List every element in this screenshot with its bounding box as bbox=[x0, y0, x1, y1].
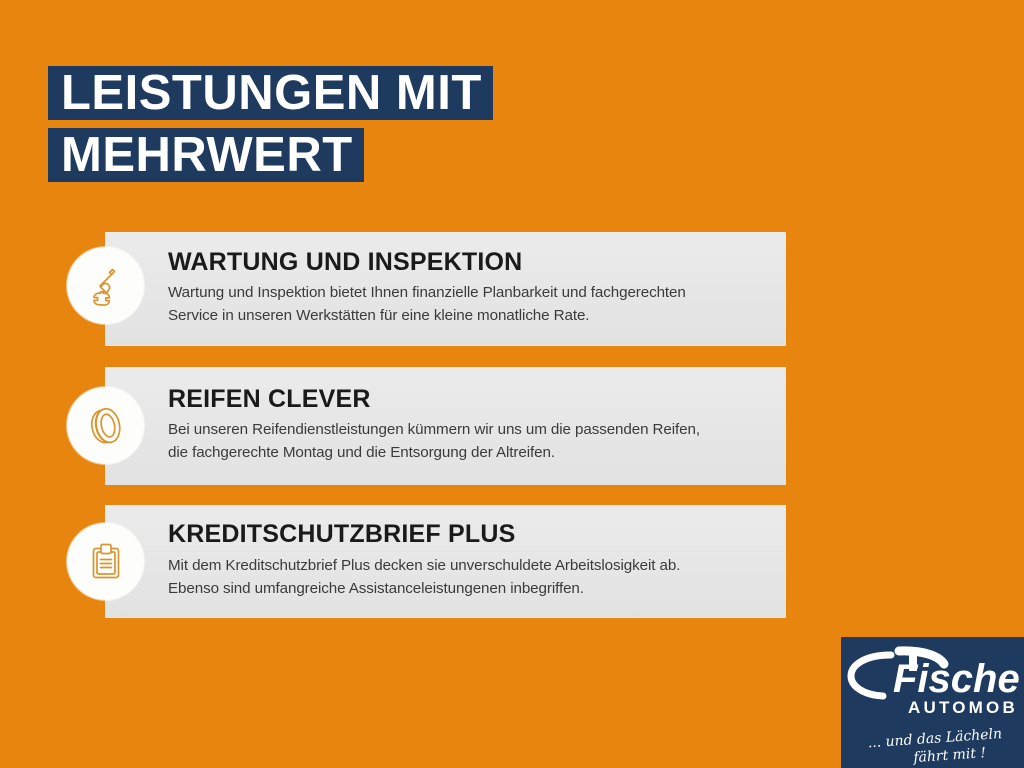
service-card-wartung-und-inspektion: WARTUNG UND INSPEKTION Wartung und Inspe… bbox=[105, 232, 786, 346]
card-description-line-2: die fachgerechte Montag und die Entsorgu… bbox=[168, 442, 768, 465]
tire-icon bbox=[67, 387, 144, 464]
card-description: Mit dem Kreditschutzbrief Plus decken si… bbox=[168, 555, 768, 601]
card-heading: KREDITSCHUTZBRIEF PLUS bbox=[168, 522, 768, 548]
logo-emblem-icon: Fischer AUTOMOBILE bbox=[847, 645, 1019, 723]
service-card-reifen-clever: REIFEN CLEVER Bei unseren Reifendienstle… bbox=[105, 367, 786, 485]
card-description-line-2: Ebenso sind umfangreiche Assistanceleist… bbox=[168, 578, 768, 601]
card-heading: WARTUNG UND INSPEKTION bbox=[168, 250, 768, 276]
card-heading: REIFEN CLEVER bbox=[168, 387, 768, 413]
card-description-line-1: Mit dem Kreditschutzbrief Plus decken si… bbox=[168, 555, 768, 578]
card-description-line-1: Wartung und Inspektion bietet Ihnen fina… bbox=[168, 282, 768, 305]
fischer-automobile-logo: Fischer AUTOMOBILE ... und das Lächeln f… bbox=[841, 637, 1024, 768]
logo-brand-text: Fischer bbox=[893, 657, 1019, 701]
card-content: REIFEN CLEVER Bei unseren Reifendienstle… bbox=[168, 367, 768, 485]
card-description: Wartung und Inspektion bietet Ihnen fina… bbox=[168, 282, 768, 328]
slide-canvas: LEISTUNGEN MIT MEHRWERT WARTUNG UND INSP… bbox=[0, 0, 1024, 768]
service-card-kreditschutzbrief-plus: KREDITSCHUTZBRIEF PLUS Mit dem Kreditsch… bbox=[105, 505, 786, 618]
logo-subtitle-text: AUTOMOBILE bbox=[908, 698, 1019, 717]
card-description: Bei unseren Reifendienstleistungen kümme… bbox=[168, 419, 768, 465]
clipboard-icon bbox=[67, 523, 144, 600]
card-content: WARTUNG UND INSPEKTION Wartung und Inspe… bbox=[168, 232, 768, 346]
wrench-screwdriver-icon bbox=[67, 247, 144, 324]
card-description-line-2: Service in unseren Werkstätten für eine … bbox=[168, 305, 768, 328]
card-description-line-1: Bei unseren Reifendienstleistungen kümme… bbox=[168, 419, 768, 442]
card-content: KREDITSCHUTZBRIEF PLUS Mit dem Kreditsch… bbox=[168, 505, 768, 618]
logo-tagline: ... und das Lächeln fährt mit ! bbox=[841, 725, 1016, 760]
